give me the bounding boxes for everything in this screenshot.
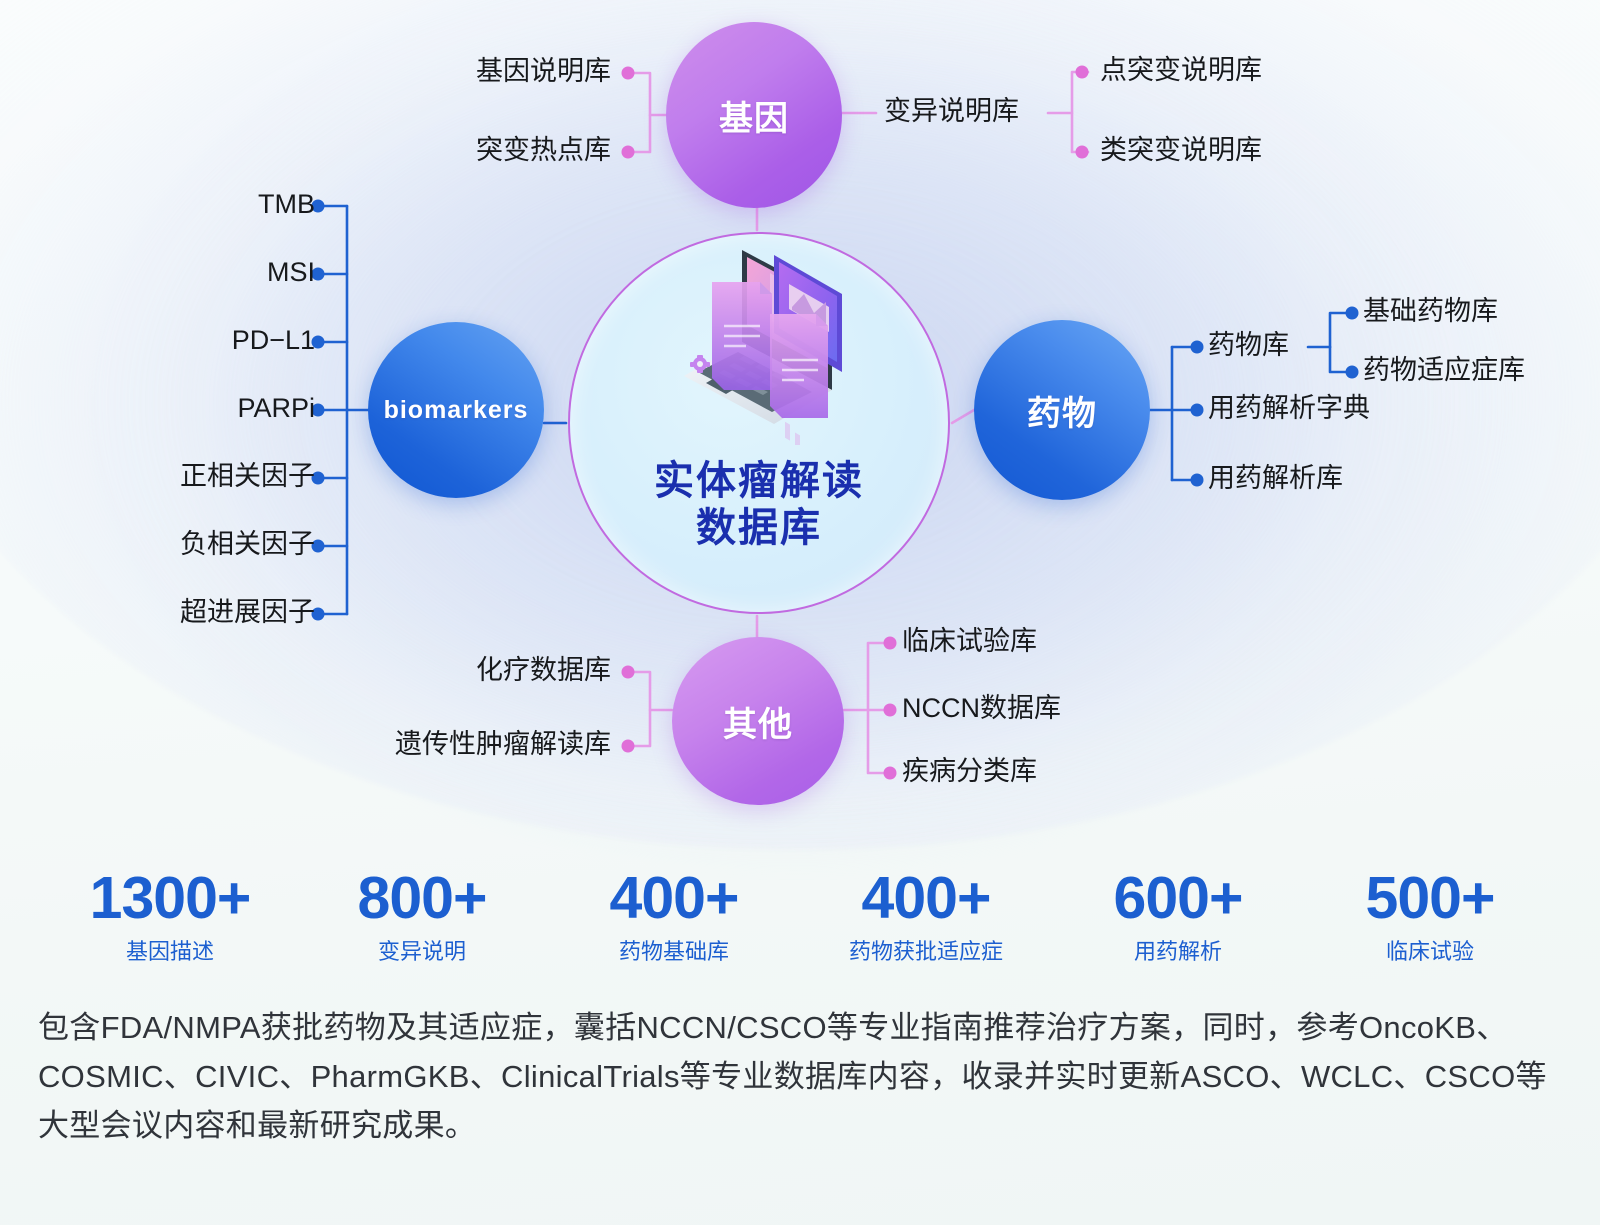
- leaf-negative-correlation-factor[interactable]: 负相关因子: [180, 531, 315, 558]
- center-hub[interactable]: 实体瘤解读 数据库: [568, 232, 950, 614]
- leaf-drug-library[interactable]: 药物库: [1208, 332, 1289, 359]
- stats-strip: 1300+ 基因描述 800+ 变异说明 400+ 药物基础库 400+ 药物获…: [0, 868, 1600, 963]
- leaf-class-mutation-description-library[interactable]: 类突变说明库: [1100, 137, 1262, 164]
- leaf-chemotherapy-database[interactable]: 化疗数据库: [476, 657, 611, 684]
- hub-title-line2: 数据库: [654, 505, 864, 552]
- leaf-gene-description-library[interactable]: 基因说明库: [476, 58, 611, 85]
- stat-number: 500+: [1342, 868, 1518, 928]
- leaf-medication-parsing-library[interactable]: 用药解析库: [1208, 465, 1343, 492]
- leaf-hyperprogression-factor[interactable]: 超进展因子: [180, 599, 315, 626]
- node-biomarkers[interactable]: biomarkers: [368, 322, 544, 498]
- stat-item: 400+ 药物获批适应症: [838, 868, 1014, 963]
- node-gene-label: 基因: [719, 91, 789, 140]
- stat-label: 临床试验: [1342, 941, 1518, 963]
- stat-number: 1300+: [82, 868, 258, 928]
- leaf-msi[interactable]: MSI: [267, 259, 315, 286]
- stat-item: 600+ 用药解析: [1090, 868, 1266, 963]
- leaf-drug-indication-library[interactable]: 药物适应症库: [1363, 357, 1525, 384]
- leaf-mutation-hotspot-library[interactable]: 突变热点库: [476, 137, 611, 164]
- stat-item: 500+ 临床试验: [1342, 868, 1518, 963]
- leaf-positive-correlation-factor[interactable]: 正相关因子: [180, 463, 315, 490]
- stat-label: 基因描述: [82, 941, 258, 963]
- node-other[interactable]: 其他: [672, 637, 844, 805]
- stat-label: 药物获批适应症: [838, 941, 1014, 963]
- stat-item: 400+ 药物基础库: [586, 868, 762, 963]
- leaf-hereditary-tumor-interpretation-library[interactable]: 遗传性肿瘤解读库: [395, 731, 611, 758]
- leaf-variant-description-library[interactable]: 变异说明库: [884, 98, 1019, 125]
- stat-label: 变异说明: [334, 941, 510, 963]
- node-drug-label: 药物: [1027, 386, 1097, 435]
- stat-label: 药物基础库: [586, 941, 762, 963]
- leaf-nccn-database[interactable]: NCCN数据库: [902, 695, 1061, 722]
- leaf-tmb[interactable]: TMB: [258, 191, 315, 218]
- leaf-basic-drug-library[interactable]: 基础药物库: [1363, 298, 1498, 325]
- leaf-clinical-trial-library[interactable]: 临床试验库: [902, 628, 1037, 655]
- stat-number: 400+: [586, 868, 762, 928]
- leaf-disease-classification-library[interactable]: 疾病分类库: [902, 758, 1037, 785]
- hub-title-line1: 实体瘤解读: [654, 458, 864, 505]
- node-biomarkers-label: biomarkers: [384, 396, 529, 425]
- stat-number: 400+: [838, 868, 1014, 928]
- leaf-parpi[interactable]: PARPi: [237, 395, 315, 422]
- infographic-canvas: .pl { stroke:#e59ce8; stroke-width:2.6; …: [0, 0, 1600, 1225]
- node-drug[interactable]: 药物: [974, 320, 1150, 500]
- node-other-label: 其他: [723, 697, 793, 746]
- stat-item: 800+ 变异说明: [334, 868, 510, 963]
- leaf-pd-l1[interactable]: PD−L1: [232, 327, 315, 354]
- stat-label: 用药解析: [1090, 941, 1266, 963]
- hub-title: 实体瘤解读 数据库: [654, 458, 864, 552]
- stat-number: 600+: [1090, 868, 1266, 928]
- leaf-point-mutation-description-library[interactable]: 点突变说明库: [1100, 57, 1262, 84]
- leaf-medication-parsing-dictionary[interactable]: 用药解析字典: [1208, 395, 1370, 422]
- stat-item: 1300+ 基因描述: [82, 868, 258, 963]
- node-gene[interactable]: 基因: [666, 22, 842, 208]
- stat-number: 800+: [334, 868, 510, 928]
- laptop-monitor-icon: [614, 240, 904, 450]
- footer-description: 包含FDA/NMPA获批药物及其适应症，囊括NCCN/CSCO等专业指南推荐治疗…: [38, 1004, 1568, 1151]
